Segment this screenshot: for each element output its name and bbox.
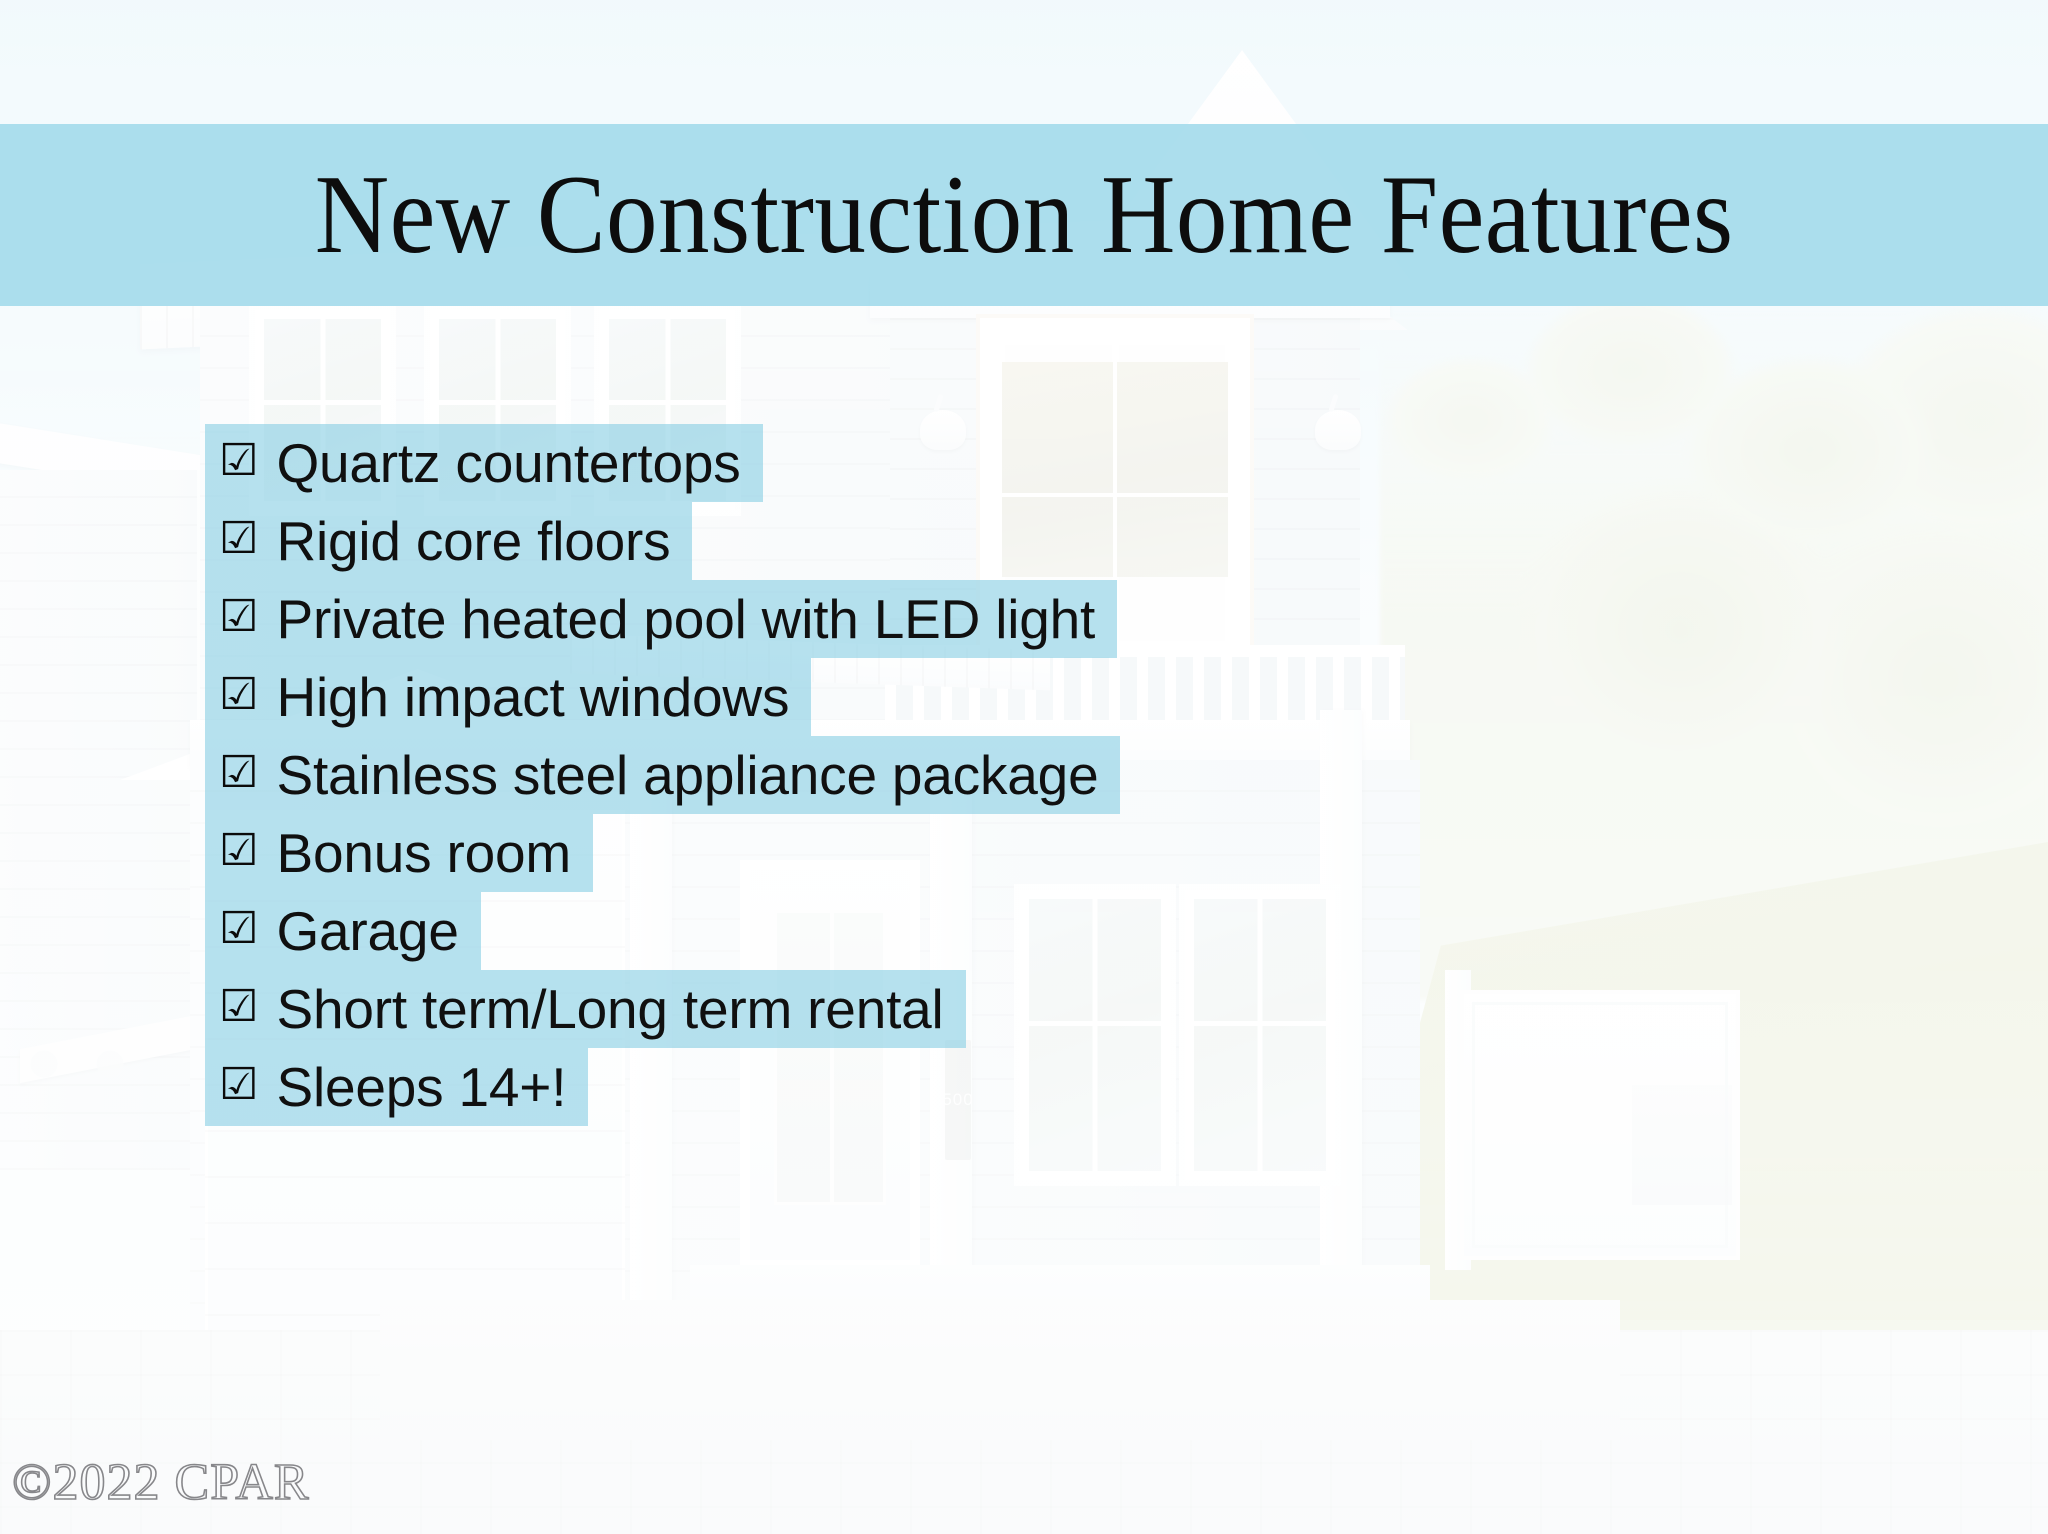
window-mullion-vertical xyxy=(1258,899,1263,1171)
list-item[interactable]: ☑ Garage xyxy=(205,892,481,970)
checked-checkbox-icon: ☑ xyxy=(219,673,258,717)
checked-checkbox-icon: ☑ xyxy=(219,1063,258,1107)
page-title: New Construction Home Features xyxy=(315,159,1734,271)
list-item[interactable]: ☑ Short term/Long term rental xyxy=(205,970,966,1048)
list-item-label: Rigid core floors xyxy=(276,514,670,569)
window-mullion-horizontal xyxy=(264,400,381,405)
window-mullion-horizontal xyxy=(439,400,556,405)
list-item[interactable]: ☑ Quartz countertops xyxy=(205,424,763,502)
copyright-watermark: ©2022 CPAR xyxy=(12,1453,310,1512)
wall-sconce-light-right xyxy=(1315,410,1361,450)
list-item-label: Bonus room xyxy=(276,826,571,881)
checked-checkbox-icon: ☑ xyxy=(219,439,258,483)
checked-checkbox-icon: ☑ xyxy=(219,907,258,951)
utility-meters xyxy=(10,1030,150,1150)
window-mullion-horizontal xyxy=(1194,1021,1326,1026)
paver-apron xyxy=(380,1300,1620,1440)
checked-checkbox-icon: ☑ xyxy=(219,985,258,1029)
checked-checkbox-icon: ☑ xyxy=(219,517,258,561)
slide-stage: 500 New Construction Home Features xyxy=(0,0,2048,1534)
checked-checkbox-icon: ☑ xyxy=(219,595,258,639)
list-item[interactable]: ☑ Bonus room xyxy=(205,814,593,892)
feature-list: ☑ Quartz countertops ☑ Rigid core floors… xyxy=(205,424,1120,1126)
lower-window-2 xyxy=(1185,890,1335,1180)
ac-condenser-unit xyxy=(1632,1085,1732,1205)
list-item[interactable]: ☑ Sleeps 14+! xyxy=(205,1048,588,1126)
list-item-label: Garage xyxy=(276,904,458,959)
list-item-label: Stainless steel appliance package xyxy=(276,748,1098,803)
list-item-label: Short term/Long term rental xyxy=(276,982,943,1037)
checked-checkbox-icon: ☑ xyxy=(219,751,258,795)
list-item[interactable]: ☑ Stainless steel appliance package xyxy=(205,736,1120,814)
checked-checkbox-icon: ☑ xyxy=(219,829,258,873)
list-item-label: Sleeps 14+! xyxy=(276,1060,566,1115)
list-item-label: High impact windows xyxy=(276,670,789,725)
list-item-label: Private heated pool with LED light xyxy=(276,592,1095,647)
list-item-label: Quartz countertops xyxy=(276,436,740,491)
list-item[interactable]: ☑ High impact windows xyxy=(205,658,811,736)
window-mullion-horizontal xyxy=(609,400,726,405)
list-item[interactable]: ☑ Private heated pool with LED light xyxy=(205,580,1117,658)
list-item[interactable]: ☑ Rigid core floors xyxy=(205,502,692,580)
title-banner: New Construction Home Features xyxy=(0,124,2048,306)
